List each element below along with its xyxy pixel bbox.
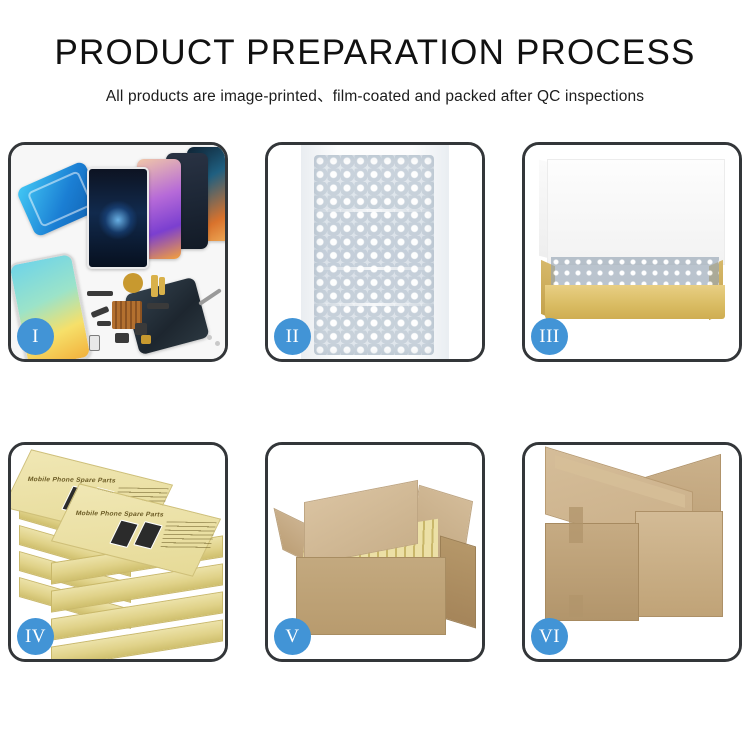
part-tweezers — [198, 288, 222, 306]
part-flex-cable-1 — [151, 275, 158, 297]
step-badge-1: I — [17, 318, 54, 355]
step-panel-5: V — [265, 442, 485, 662]
box-label-front: Mobile Phone Spare Parts — [75, 510, 165, 519]
step-badge-6: VI — [531, 618, 568, 655]
part-ribbon-2 — [97, 321, 111, 326]
step-badge-4: IV — [17, 618, 54, 655]
process-steps-grid: I II III — [8, 142, 742, 662]
box-front-panel — [545, 285, 725, 319]
page-header: PRODUCT PREPARATION PROCESS All products… — [0, 0, 750, 106]
part-camera-module — [115, 333, 129, 343]
bubble-wrap-sheet — [314, 155, 434, 355]
packing-tape-edge-lower — [569, 595, 583, 617]
step-panel-6: VI — [522, 442, 742, 662]
wrap-crease-3 — [314, 303, 434, 306]
page-subtitle: All products are image-printed、film-coat… — [0, 84, 750, 106]
box-label-rear: Mobile Phone Spare Parts — [27, 476, 117, 485]
step-badge-2: II — [274, 318, 311, 355]
step-panel-1: I — [8, 142, 228, 362]
part-screw-2 — [215, 341, 220, 346]
part-ribbon-1 — [91, 306, 110, 318]
sealed-carton-side — [635, 511, 723, 617]
box-lid-back — [547, 159, 725, 265]
step-badge-5: V — [274, 618, 311, 655]
box-bubble-contents — [551, 257, 719, 287]
part-taptic-coil — [123, 273, 143, 293]
phone-glass-shatter — [87, 167, 149, 269]
part-screw-1 — [207, 335, 212, 340]
step-panel-4: Mobile Phone Spare Parts Mobile Phone Sp… — [8, 442, 228, 662]
part-screw-plate — [141, 335, 151, 344]
page-title: PRODUCT PREPARATION PROCESS — [0, 34, 750, 73]
carton-front-panel — [296, 557, 446, 635]
sealed-carton-front — [545, 523, 639, 621]
part-connector-strip — [147, 303, 169, 309]
part-bracket — [135, 323, 147, 335]
part-battery-cell — [89, 335, 100, 351]
box-spec-lines-front — [160, 521, 216, 549]
wrap-crease-2 — [314, 267, 434, 270]
part-speaker — [87, 291, 113, 296]
step-panel-2: II — [265, 142, 485, 362]
packing-tape-edge-upper — [569, 507, 583, 543]
part-flex-cable-2 — [159, 277, 165, 295]
step-panel-3: III — [522, 142, 742, 362]
step-badge-3: III — [531, 318, 568, 355]
wrap-crease-1 — [314, 209, 434, 212]
